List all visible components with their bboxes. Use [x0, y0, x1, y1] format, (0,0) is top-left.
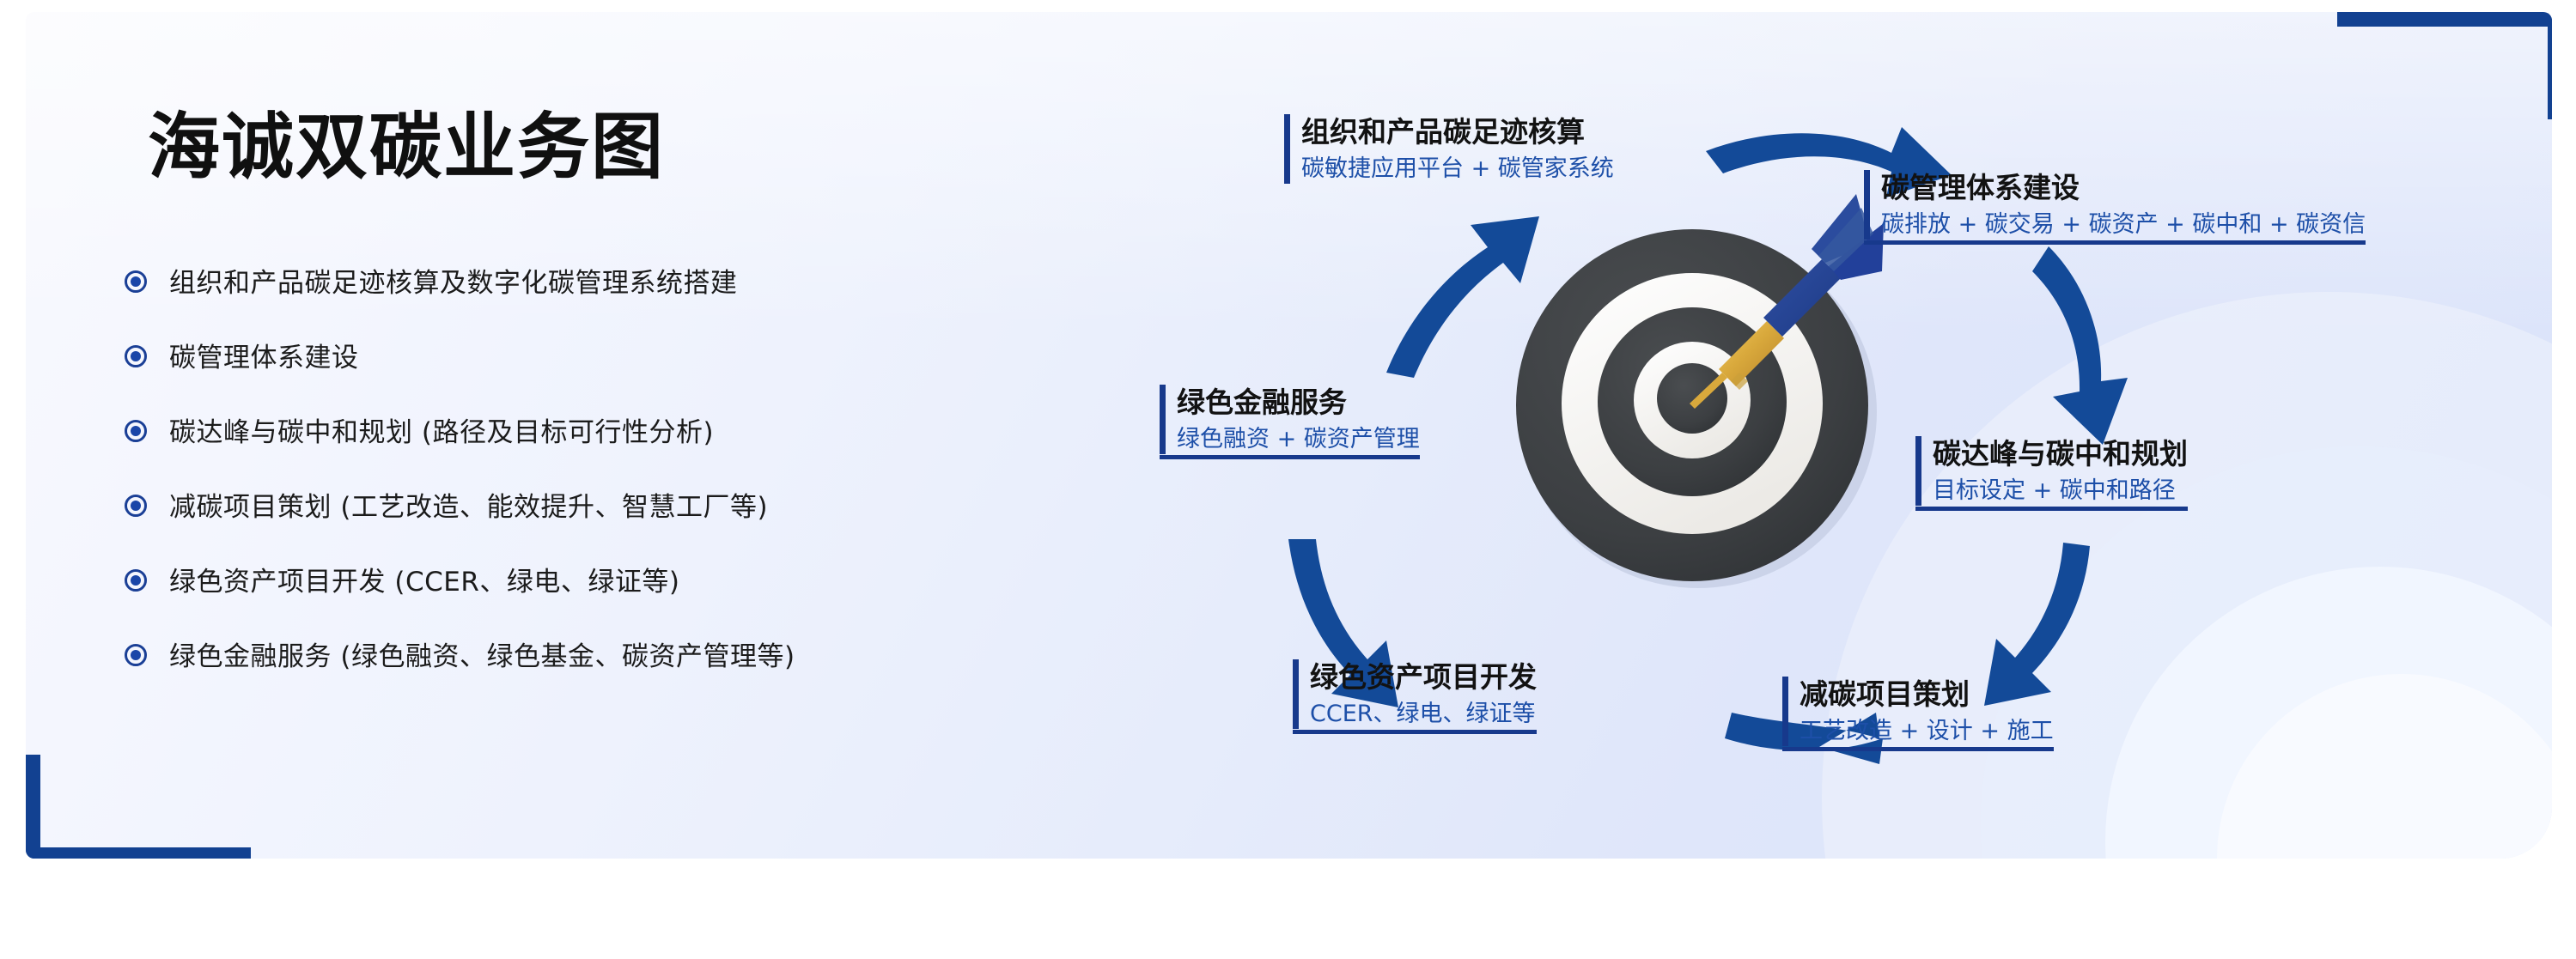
- list-item: 组织和产品碳足迹核算及数字化碳管理系统搭建: [125, 261, 1121, 300]
- list-item-label: 碳达峰与碳中和规划 (路径及目标可行性分析): [169, 410, 714, 449]
- bullet-dot-icon: [125, 420, 147, 442]
- node-label-emission-reduction[interactable]: 减碳项目策划 工艺改造 + 设计 + 施工: [1782, 673, 2054, 751]
- accent-bar: [1293, 659, 1299, 729]
- page-title: 海诚双碳业务图: [148, 106, 1121, 187]
- node-subtitle: 目标设定 + 碳中和路径: [1933, 476, 2188, 506]
- accent-underline: [1160, 455, 1420, 459]
- accent-underline: [1782, 747, 2054, 751]
- main-panel: 海诚双碳业务图 组织和产品碳足迹核算及数字化碳管理系统搭建 碳管理体系建设 碳达…: [26, 12, 2552, 859]
- node-label-green-asset[interactable]: 绿色资产项目开发 CCER、绿电、绿证等: [1293, 656, 1537, 734]
- bracket-bottom-left-horizontal: [26, 847, 251, 859]
- list-item: 绿色资产项目开发 (CCER、绿电、绿证等): [125, 560, 1121, 598]
- node-subtitle: 碳排放 + 碳交易 + 碳资产 + 碳中和 + 碳资信: [1881, 209, 2366, 240]
- corner-bracket-top-right: [2337, 12, 2552, 119]
- node-label-green-finance[interactable]: 绿色金融服务 绿色融资 + 碳资产管理: [1160, 381, 1420, 459]
- node-title: 碳管理体系建设: [1881, 170, 2366, 205]
- corner-bracket-bottom-left: [26, 755, 251, 859]
- cycle-diagram: 组织和产品碳足迹核算 碳敏捷应用平台 + 碳管家系统 碳管理体系建设 碳排放 +…: [1117, 38, 2552, 836]
- list-item-label: 组织和产品碳足迹核算及数字化碳管理系统搭建: [169, 261, 738, 300]
- node-title: 减碳项目策划: [1800, 677, 2054, 712]
- bullet-dot-icon: [125, 270, 147, 293]
- bullet-dot-icon: [125, 495, 147, 517]
- list-item-label: 绿色资产项目开发 (CCER、绿电、绿证等): [169, 560, 679, 598]
- node-label-carbon-management[interactable]: 碳管理体系建设 碳排放 + 碳交易 + 碳资产 + 碳中和 + 碳资信: [1864, 167, 2366, 245]
- node-subtitle: 绿色融资 + 碳资产管理: [1177, 424, 1420, 454]
- node-label-peak-neutrality[interactable]: 碳达峰与碳中和规划 目标设定 + 碳中和路径: [1915, 433, 2188, 511]
- bracket-bottom-left-vertical: [26, 755, 40, 859]
- accent-bar: [1864, 170, 1870, 240]
- bullet-dot-icon: [125, 345, 147, 367]
- accent-underline: [1293, 730, 1537, 734]
- bracket-top-right-vertical: [2548, 12, 2552, 119]
- left-column: 海诚双碳业务图 组织和产品碳足迹核算及数字化碳管理系统搭建 碳管理体系建设 碳达…: [125, 106, 1121, 709]
- list-item: 碳管理体系建设: [125, 336, 1121, 374]
- list-item: 绿色金融服务 (绿色融资、绿色基金、碳资产管理等): [125, 634, 1121, 673]
- arrow-right-down-icon: [2032, 246, 2128, 445]
- bracket-top-right-horizontal: [2337, 12, 2552, 27]
- node-subtitle: 工艺改造 + 设计 + 施工: [1800, 716, 2054, 746]
- node-subtitle: 碳敏捷应用平台 + 碳管家系统: [1301, 154, 1614, 184]
- dartboard-target-icon: [1465, 141, 1928, 622]
- accent-bar: [1160, 385, 1166, 454]
- bullet-dot-icon: [125, 569, 147, 592]
- node-title: 绿色金融服务: [1177, 385, 1420, 420]
- service-bullet-list: 组织和产品碳足迹核算及数字化碳管理系统搭建 碳管理体系建设 碳达峰与碳中和规划 …: [125, 261, 1121, 673]
- list-item: 碳达峰与碳中和规划 (路径及目标可行性分析): [125, 410, 1121, 449]
- bullet-dot-icon: [125, 644, 147, 666]
- node-label-carbon-footprint[interactable]: 组织和产品碳足迹核算 碳敏捷应用平台 + 碳管家系统: [1284, 111, 1614, 189]
- accent-bar: [1782, 677, 1788, 746]
- list-item-label: 碳管理体系建设: [169, 336, 359, 374]
- node-title: 组织和产品碳足迹核算: [1301, 114, 1614, 149]
- node-title: 绿色资产项目开发: [1310, 659, 1537, 695]
- list-item: 减碳项目策划 (工艺改造、能效提升、智慧工厂等): [125, 485, 1121, 524]
- accent-underline: [1864, 240, 2366, 245]
- accent-bar: [1915, 436, 1921, 506]
- list-item-label: 绿色金融服务 (绿色融资、绿色基金、碳资产管理等): [169, 634, 795, 673]
- accent-bar: [1284, 114, 1290, 184]
- list-item-label: 减碳项目策划 (工艺改造、能效提升、智慧工厂等): [169, 485, 768, 524]
- node-title: 碳达峰与碳中和规划: [1933, 436, 2188, 471]
- accent-underline: [1915, 507, 2188, 511]
- node-subtitle: CCER、绿电、绿证等: [1310, 699, 1537, 729]
- infographic-root: 海诚双碳业务图 组织和产品碳足迹核算及数字化碳管理系统搭建 碳管理体系建设 碳达…: [0, 0, 2576, 959]
